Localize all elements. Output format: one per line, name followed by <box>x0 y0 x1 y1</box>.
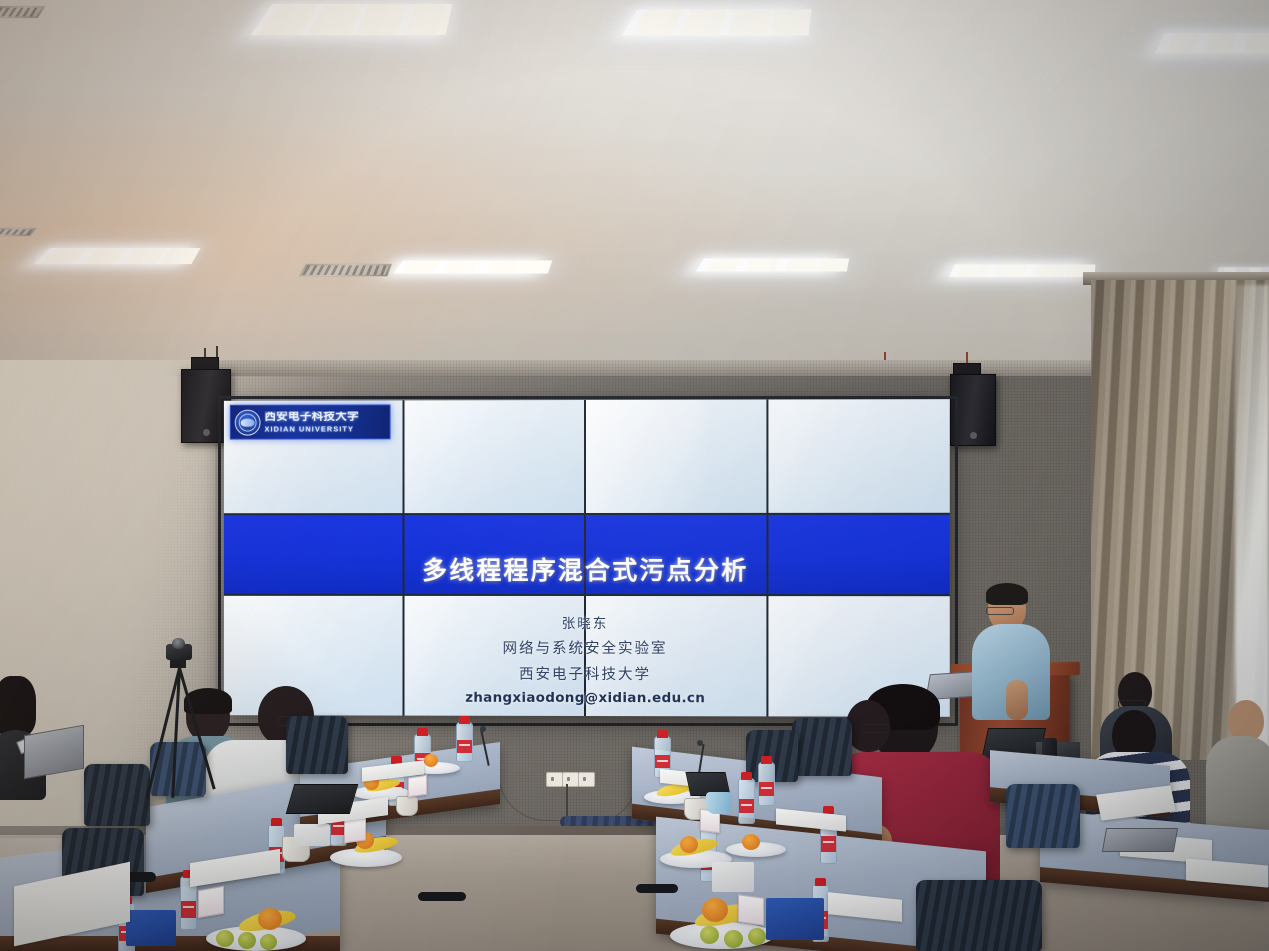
ceiling-light-panel <box>34 248 187 264</box>
display-panel <box>768 515 949 594</box>
microphone-head-icon <box>697 740 703 746</box>
display-panel <box>404 515 584 594</box>
tissue-box[interactable] <box>294 824 330 846</box>
camera-lens-icon <box>172 638 185 649</box>
display-panel <box>586 400 766 514</box>
ceiling-air-vent <box>298 264 392 277</box>
display-panel <box>224 400 403 513</box>
display-panel <box>404 400 584 514</box>
video-wall[interactable]: 西安电子科技大学 XIDIAN UNIVERSITY 多线程程序混合式污点分析 … <box>224 399 950 717</box>
display-panel <box>224 516 403 595</box>
laptop[interactable] <box>1102 828 1178 852</box>
orange <box>424 754 438 767</box>
presenter-arm <box>1006 680 1028 720</box>
orange <box>742 834 760 850</box>
display-panel <box>404 596 584 716</box>
ceiling-light-panel <box>622 10 802 36</box>
attendee-glasses-icon <box>862 724 890 733</box>
name-card <box>408 775 427 798</box>
display-panel <box>586 596 766 716</box>
ceiling-light-panel <box>696 259 834 272</box>
presenter-glasses-icon <box>986 607 1014 615</box>
office-chair[interactable] <box>1006 784 1080 848</box>
chair-base <box>636 884 678 893</box>
ceiling-light-panel <box>393 261 537 274</box>
ceramic-cup[interactable] <box>396 796 418 816</box>
office-chair[interactable] <box>286 716 348 774</box>
attendee-body <box>1206 736 1269 832</box>
ceiling-light-panel <box>251 4 446 35</box>
pear <box>700 926 719 944</box>
name-card <box>738 894 764 926</box>
office-chair[interactable] <box>916 880 1042 951</box>
orange <box>258 908 282 930</box>
tissue-box[interactable] <box>766 898 824 940</box>
video-wall-panels <box>224 399 950 717</box>
water-bottle[interactable] <box>758 762 775 806</box>
office-chair[interactable] <box>792 718 852 776</box>
orange <box>702 898 728 922</box>
tissue-box[interactable] <box>126 910 176 946</box>
attendee-hair <box>0 676 36 736</box>
pear <box>238 932 256 949</box>
office-chair[interactable] <box>84 764 150 826</box>
name-card <box>198 886 224 919</box>
pear <box>724 930 743 948</box>
chair-base <box>418 892 466 901</box>
water-bottle[interactable] <box>738 778 755 824</box>
pear <box>216 930 234 947</box>
conference-room-photo: 西安电子科技大学 XIDIAN UNIVERSITY 多线程程序混合式污点分析 … <box>0 0 1269 951</box>
wall-speaker <box>950 374 996 446</box>
pear <box>260 934 277 950</box>
presenter-hair <box>986 583 1028 605</box>
water-pitcher[interactable] <box>706 792 732 814</box>
ceiling-light-panel <box>1155 33 1269 53</box>
display-panel <box>768 399 949 513</box>
ceiling-air-vent <box>0 6 46 18</box>
pear <box>748 928 766 945</box>
ceiling <box>0 0 1269 390</box>
orange <box>680 836 698 853</box>
window-daylight <box>1235 285 1269 755</box>
tissue-box[interactable] <box>712 862 754 892</box>
ceiling-light-panel <box>949 264 1081 277</box>
microphone-head-icon <box>480 726 486 732</box>
water-bottle[interactable] <box>456 722 473 762</box>
laptop[interactable] <box>286 784 359 814</box>
display-panel <box>224 596 403 715</box>
display-panel <box>586 515 766 594</box>
